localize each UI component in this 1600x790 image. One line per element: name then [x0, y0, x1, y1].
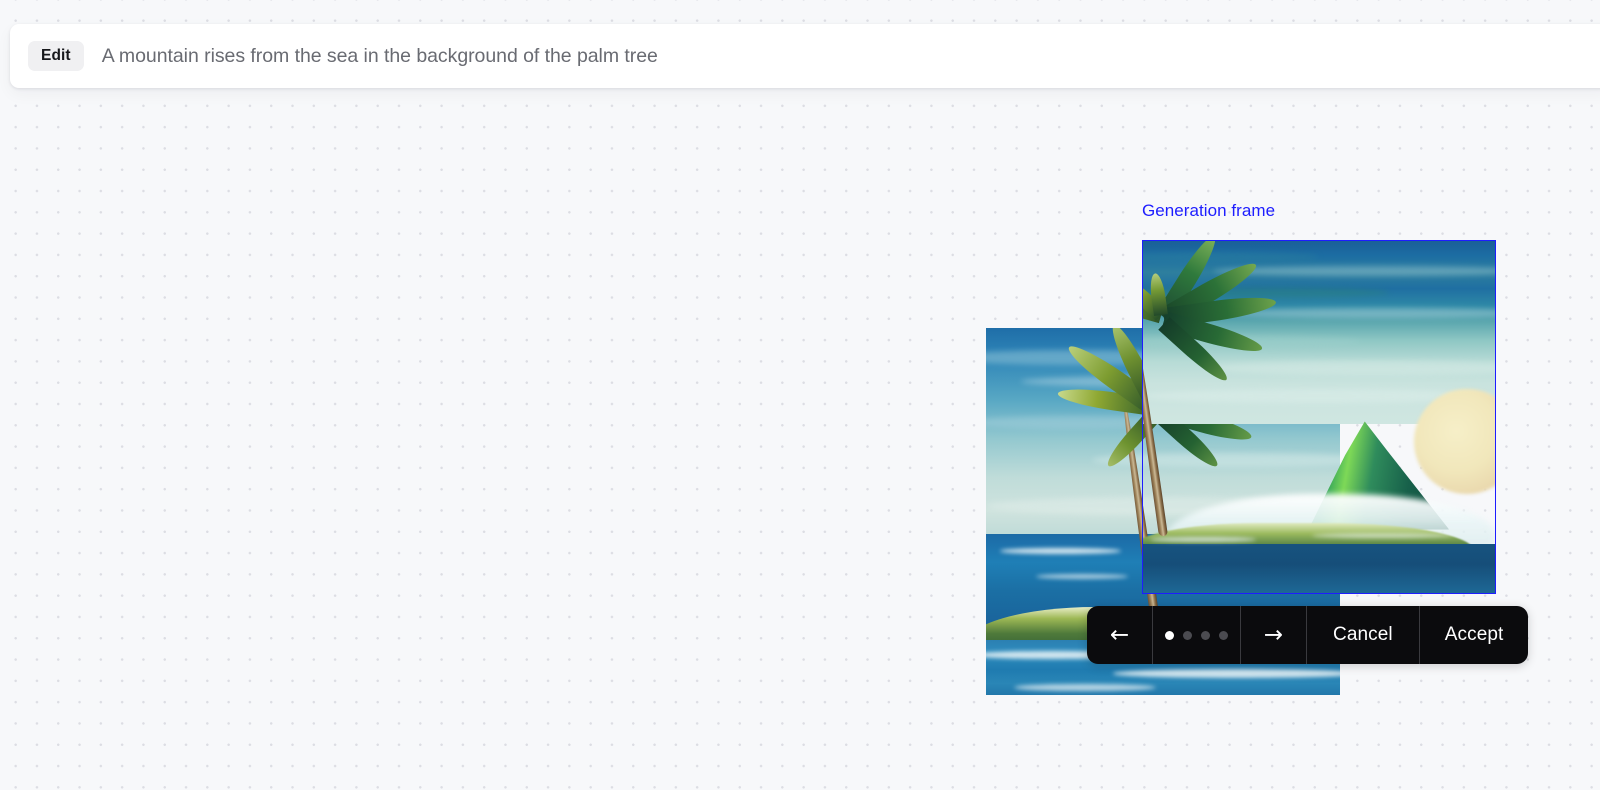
edit-button[interactable]: Edit	[28, 41, 84, 72]
arrow-left-icon: ←	[1110, 624, 1129, 647]
generated-image-artwork	[1143, 241, 1495, 593]
pagination-dot-2[interactable]	[1183, 631, 1192, 640]
generation-frame-label: Generation frame	[1142, 201, 1275, 221]
pagination-dots	[1153, 606, 1241, 664]
palm-tree-overlap	[1143, 241, 1495, 593]
cancel-button[interactable]: Cancel	[1307, 606, 1420, 664]
accept-button[interactable]: Accept	[1420, 606, 1529, 664]
pagination-dot-1[interactable]	[1165, 631, 1174, 640]
prompt-text[interactable]: A mountain rises from the sea in the bac…	[102, 45, 658, 68]
generation-frame[interactable]	[1142, 240, 1496, 594]
generation-toolbar[interactable]: ← → Cancel Accept	[1087, 606, 1528, 664]
next-variation-button[interactable]: →	[1241, 606, 1307, 664]
arrow-right-icon: →	[1264, 624, 1283, 647]
previous-variation-button[interactable]: ←	[1087, 606, 1153, 664]
pagination-dot-4[interactable]	[1219, 631, 1228, 640]
pagination-dot-3[interactable]	[1201, 631, 1210, 640]
canvas[interactable]: Generation frame	[0, 0, 1600, 790]
prompt-bar[interactable]: Edit A mountain rises from the sea in th…	[10, 24, 1600, 88]
